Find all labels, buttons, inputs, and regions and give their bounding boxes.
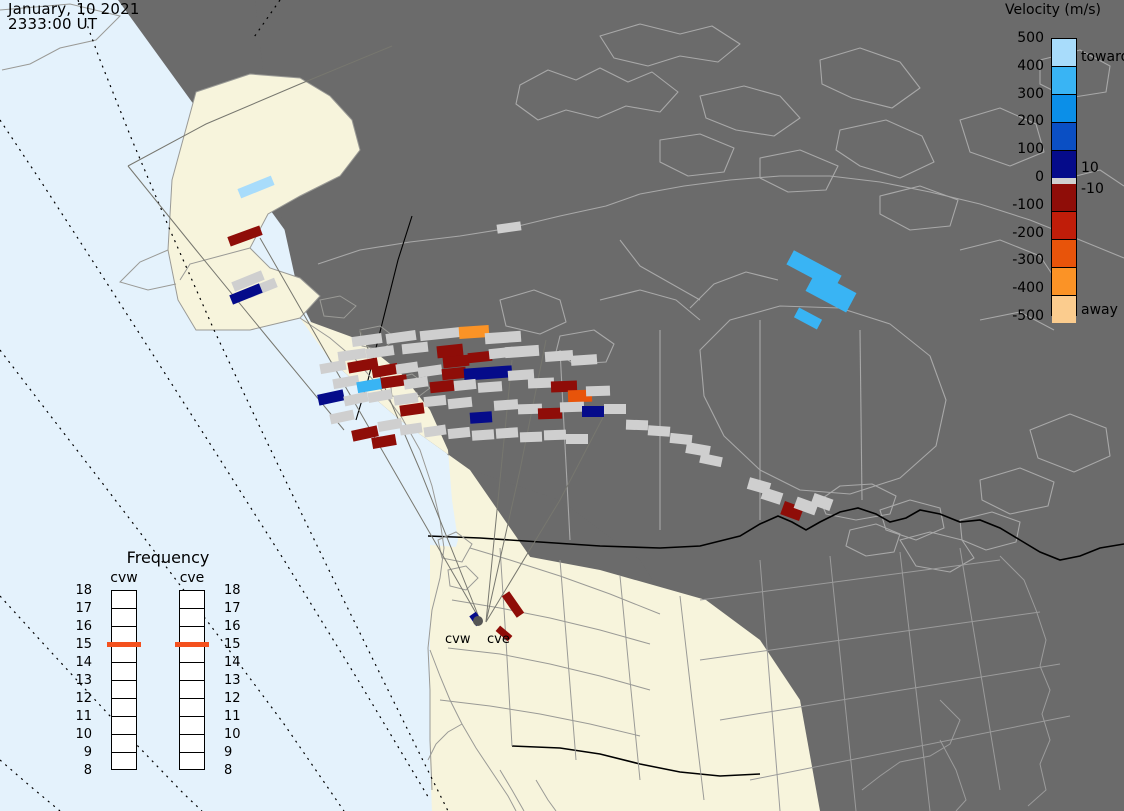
frequency-ticks-right: 18171615141312111098 bbox=[224, 590, 246, 770]
frequency-tick: 13 bbox=[70, 674, 92, 687]
frequency-cell bbox=[112, 681, 136, 699]
frequency-marker bbox=[107, 642, 141, 647]
frequency-cell bbox=[180, 699, 204, 717]
velocity-colorbar: Velocity (m/s) 5004003002001000-100-200-… bbox=[982, 0, 1124, 340]
frequency-bar-cvw[interactable] bbox=[111, 590, 137, 770]
frequency-tick: 13 bbox=[224, 674, 246, 687]
radar-cell[interactable] bbox=[472, 429, 495, 441]
colorbar-tick: -100 bbox=[1012, 198, 1044, 212]
frequency-tick: 11 bbox=[224, 710, 246, 723]
superdarn-map-window: January, 10 2021 2333:00 UT Velocity (m/… bbox=[0, 0, 1124, 811]
colorbar-segment bbox=[1052, 123, 1076, 151]
frequency-tick: 12 bbox=[224, 692, 246, 705]
frequency-cell bbox=[112, 735, 136, 753]
colorbar-negative-threshold: -10 bbox=[1081, 182, 1104, 196]
colorbar-segment bbox=[1052, 212, 1076, 240]
frequency-tick: 11 bbox=[70, 710, 92, 723]
frequency-tick: 10 bbox=[70, 728, 92, 741]
frequency-cell bbox=[180, 645, 204, 663]
timestamp-time: 2333:00 UT bbox=[8, 17, 140, 32]
frequency-cell bbox=[112, 717, 136, 735]
frequency-cell bbox=[180, 681, 204, 699]
colorbar-segment bbox=[1052, 95, 1076, 123]
radar-cell[interactable] bbox=[478, 381, 503, 393]
frequency-tick: 17 bbox=[224, 602, 246, 615]
colorbar-tick: -300 bbox=[1012, 253, 1044, 267]
colorbar-tick: 100 bbox=[1017, 142, 1044, 156]
frequency-panel: Frequency cvw 18171615141312111098 cve 1… bbox=[88, 548, 248, 788]
frequency-tick: 17 bbox=[70, 602, 92, 615]
colorbar-tick: 400 bbox=[1017, 59, 1044, 73]
frequency-tick: 9 bbox=[224, 746, 246, 759]
radar-cell[interactable] bbox=[566, 434, 588, 444]
frequency-tick: 15 bbox=[224, 638, 246, 651]
frequency-tick: 16 bbox=[70, 620, 92, 633]
frequency-ticks-left: 18171615141312111098 bbox=[70, 590, 92, 770]
radar-cell[interactable] bbox=[626, 420, 648, 431]
frequency-tick: 14 bbox=[70, 656, 92, 669]
frequency-cell bbox=[112, 663, 136, 681]
radar-cell[interactable] bbox=[470, 411, 493, 424]
colorbar-tick: 300 bbox=[1017, 87, 1044, 101]
radar-label-cvw[interactable]: cvw bbox=[445, 632, 470, 647]
radar-cell[interactable] bbox=[648, 425, 671, 437]
radar-cell[interactable] bbox=[528, 378, 554, 389]
colorbar-segment bbox=[1052, 268, 1076, 296]
colorbar-side-labels: toward 10 -10 away bbox=[1081, 0, 1124, 340]
frequency-cell bbox=[112, 609, 136, 627]
colorbar-toward-label: toward bbox=[1081, 50, 1124, 64]
frequency-column-label: cve bbox=[162, 570, 222, 586]
colorbar-tick: 500 bbox=[1017, 31, 1044, 45]
radar-cell[interactable] bbox=[582, 406, 604, 417]
radar-cell[interactable] bbox=[560, 402, 584, 413]
frequency-tick: 12 bbox=[70, 692, 92, 705]
radar-cell[interactable] bbox=[520, 432, 542, 443]
frequency-cell bbox=[180, 663, 204, 681]
colorbar-segment bbox=[1052, 151, 1076, 178]
radar-cell[interactable] bbox=[586, 386, 610, 397]
radar-cell[interactable] bbox=[544, 430, 566, 441]
frequency-cell bbox=[112, 753, 136, 771]
frequency-cell bbox=[112, 699, 136, 717]
colorbar-away-label: away bbox=[1081, 303, 1118, 317]
frequency-tick: 18 bbox=[224, 584, 246, 597]
colorbar-tick-labels: 5004003002001000-100-200-300-400-500 bbox=[982, 0, 1046, 340]
frequency-cell bbox=[180, 717, 204, 735]
frequency-bar-cve[interactable] bbox=[179, 590, 205, 770]
frequency-tick: 18 bbox=[70, 584, 92, 597]
frequency-column-label: cvw bbox=[94, 570, 154, 586]
radar-cell[interactable] bbox=[604, 404, 626, 414]
colorbar-segment bbox=[1052, 67, 1076, 95]
colorbar-positive-threshold: 10 bbox=[1081, 161, 1099, 175]
colorbar-tick: 0 bbox=[1035, 170, 1044, 184]
frequency-tick: 14 bbox=[224, 656, 246, 669]
radar-cell[interactable] bbox=[538, 408, 562, 420]
frequency-tick: 8 bbox=[70, 764, 92, 777]
colorbar-segment bbox=[1052, 39, 1076, 67]
timestamp-block: January, 10 2021 2333:00 UT bbox=[8, 2, 140, 32]
frequency-cell bbox=[180, 609, 204, 627]
radar-cell[interactable] bbox=[545, 350, 574, 362]
radar-site-marker[interactable] bbox=[473, 616, 483, 626]
frequency-tick: 10 bbox=[224, 728, 246, 741]
frequency-cell bbox=[112, 645, 136, 663]
frequency-tick: 15 bbox=[70, 638, 92, 651]
colorbar-tick: -500 bbox=[1012, 309, 1044, 323]
frequency-cell bbox=[180, 753, 204, 771]
frequency-tick: 16 bbox=[224, 620, 246, 633]
frequency-cell bbox=[112, 591, 136, 609]
frequency-tick: 9 bbox=[70, 746, 92, 759]
colorbar-tick: 200 bbox=[1017, 114, 1044, 128]
colorbar-tick: -200 bbox=[1012, 226, 1044, 240]
radar-label-cve[interactable]: cve bbox=[487, 632, 510, 647]
frequency-title: Frequency bbox=[88, 548, 248, 567]
colorbar-segment bbox=[1052, 184, 1076, 212]
frequency-cell bbox=[180, 591, 204, 609]
colorbar-tick: -400 bbox=[1012, 281, 1044, 295]
radar-cell[interactable] bbox=[459, 325, 490, 339]
frequency-cell bbox=[180, 735, 204, 753]
radar-cell[interactable] bbox=[494, 399, 519, 411]
colorbar-segment bbox=[1052, 240, 1076, 268]
frequency-tick: 8 bbox=[224, 764, 246, 777]
radar-cell[interactable] bbox=[571, 354, 598, 366]
radar-cell[interactable] bbox=[496, 427, 519, 439]
colorbar-gradient[interactable] bbox=[1051, 38, 1077, 316]
frequency-marker bbox=[175, 642, 209, 647]
colorbar-segment bbox=[1052, 296, 1076, 323]
